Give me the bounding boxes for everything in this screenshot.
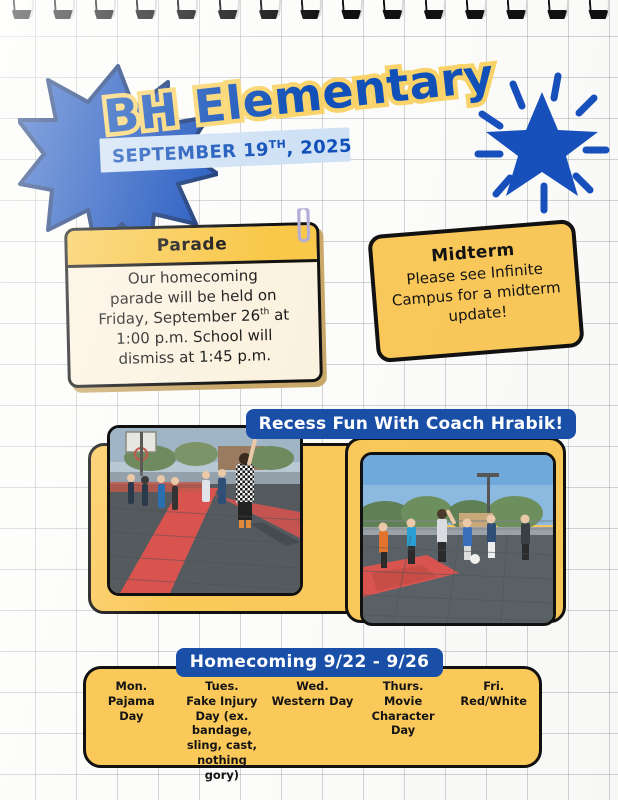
- parade-line-3b: at: [269, 306, 289, 324]
- spiral-binding: [0, 0, 618, 34]
- midterm-line-3: update!: [448, 302, 508, 325]
- spiral-ring: [547, 0, 569, 18]
- spiral-ring: [424, 0, 446, 18]
- spiral-ring: [506, 0, 528, 18]
- spiral-ring: [176, 0, 198, 18]
- parade-card: Parade Our homecoming parade will be hel…: [64, 222, 323, 388]
- homecoming-card: Mon.PajamaDay Tues.Fake InjuryDay (ex.ba…: [83, 666, 542, 768]
- midterm-text: Please see Infinite Campus for a midterm…: [382, 258, 570, 332]
- recess-banner: Recess Fun With Coach Hrabik!: [246, 409, 576, 439]
- homecoming-banner-label: Homecoming 9/22 - 9/26: [176, 648, 443, 677]
- homecoming-day-theme-line: Fake Injury: [180, 694, 265, 709]
- homecoming-day-theme-line: Character: [361, 709, 446, 724]
- homecoming-day-tues: Tues.Fake InjuryDay (ex.bandage,sling, c…: [177, 669, 268, 783]
- paperclip-icon: [292, 208, 315, 251]
- homecoming-day-name: Thurs.: [361, 679, 446, 694]
- parade-text: Our homecoming parade will be held on Fr…: [77, 265, 310, 370]
- homecoming-banner: Homecoming 9/22 - 9/26: [176, 648, 443, 677]
- spiral-ring: [341, 0, 363, 18]
- notebook-page: BH Elementary SEPTEMBER 19TH, 2025: [0, 0, 618, 800]
- homecoming-day-fri: Fri.Red/White: [448, 669, 539, 709]
- midterm-card-body: Midterm Please see Infinite Campus for a…: [367, 219, 585, 363]
- homecoming-day-theme-line: Day: [89, 709, 174, 724]
- homecoming-day-theme-line: Red/White: [451, 694, 536, 709]
- parade-line-3a: Friday, September 26: [98, 306, 260, 328]
- midterm-card: Midterm Please see Infinite Campus for a…: [367, 219, 585, 363]
- parade-line-4: 1:00 p.m. School will: [116, 326, 273, 348]
- homecoming-day-theme-line: Movie: [361, 694, 446, 709]
- homecoming-day-name: Mon.: [89, 679, 174, 694]
- spiral-ring: [53, 0, 75, 18]
- homecoming-day-theme-line: bandage,: [180, 723, 265, 738]
- date-year: , 2025: [286, 136, 352, 160]
- homecoming-day-theme-line: Day (ex.: [180, 709, 265, 724]
- spiral-ring: [588, 0, 610, 18]
- recess-photo-right: [360, 452, 556, 626]
- homecoming-day-mon: Mon.PajamaDay: [86, 669, 177, 723]
- spiral-ring: [218, 0, 240, 18]
- homecoming-day-theme-line: nothing gory): [180, 753, 265, 783]
- spiral-ring: [12, 0, 34, 18]
- spiral-ring: [300, 0, 322, 18]
- homecoming-day-name: Tues.: [180, 679, 265, 694]
- homecoming-day-name: Wed.: [270, 679, 355, 694]
- homecoming-day-theme-line: Pajama: [89, 694, 174, 709]
- parade-card-body: Parade Our homecoming parade will be hel…: [64, 222, 323, 388]
- homecoming-day-theme-line: Day: [361, 723, 446, 738]
- homecoming-day-name: Fri.: [451, 679, 536, 694]
- spiral-ring: [382, 0, 404, 18]
- recess-photo-left: [107, 425, 303, 596]
- recess-banner-label: Recess Fun With Coach Hrabik!: [246, 409, 576, 439]
- homecoming-day-theme-line: Western Day: [270, 694, 355, 709]
- spiral-ring: [259, 0, 281, 18]
- spiral-ring: [465, 0, 487, 18]
- homecoming-day-theme-line: sling, cast,: [180, 738, 265, 753]
- parade-line-1: Our homecoming: [128, 266, 258, 287]
- homecoming-day-thurs: Thurs.MovieCharacterDay: [358, 669, 449, 738]
- parade-ordinal: th: [260, 307, 269, 317]
- parade-line-5: dismiss at 1:45 p.m.: [118, 346, 271, 368]
- spiral-ring: [135, 0, 157, 18]
- parade-line-2: parade will be held on: [110, 286, 277, 308]
- star-icon: [466, 58, 616, 218]
- date-ordinal: TH: [268, 138, 286, 152]
- spiral-ring: [94, 0, 116, 18]
